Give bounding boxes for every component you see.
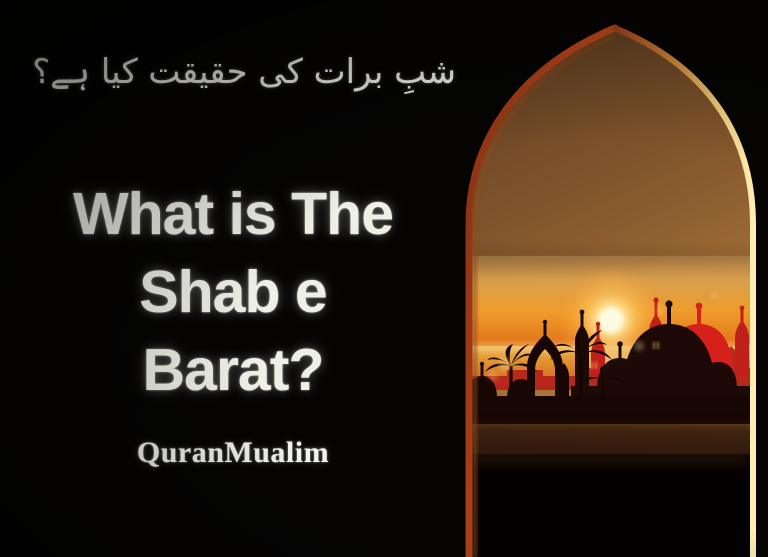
headline-line-3: Barat? (2, 332, 464, 410)
headline-line-1: What is The (2, 176, 464, 254)
page-title: What is The Shab e Barat? (2, 176, 464, 410)
headline-line-2: Shab e (2, 254, 464, 332)
sun-disc (599, 308, 623, 332)
poster-canvas: شبِ برات کی حقیقت کیا ہے؟ What is The Sh… (0, 0, 768, 557)
urdu-question-text: شبِ برات کی حقیقت کیا ہے؟ (0, 52, 462, 93)
mosque-sunset-arch-window (463, 24, 759, 557)
foreground-warm-band (473, 424, 749, 466)
brand-wordmark: QuranMualim (2, 436, 464, 470)
foreground-black (463, 454, 759, 557)
sunset-scene (463, 250, 759, 424)
arch-artwork-svg (463, 24, 759, 557)
text-column: شبِ برات کی حقیقت کیا ہے؟ What is The Sh… (0, 0, 465, 557)
